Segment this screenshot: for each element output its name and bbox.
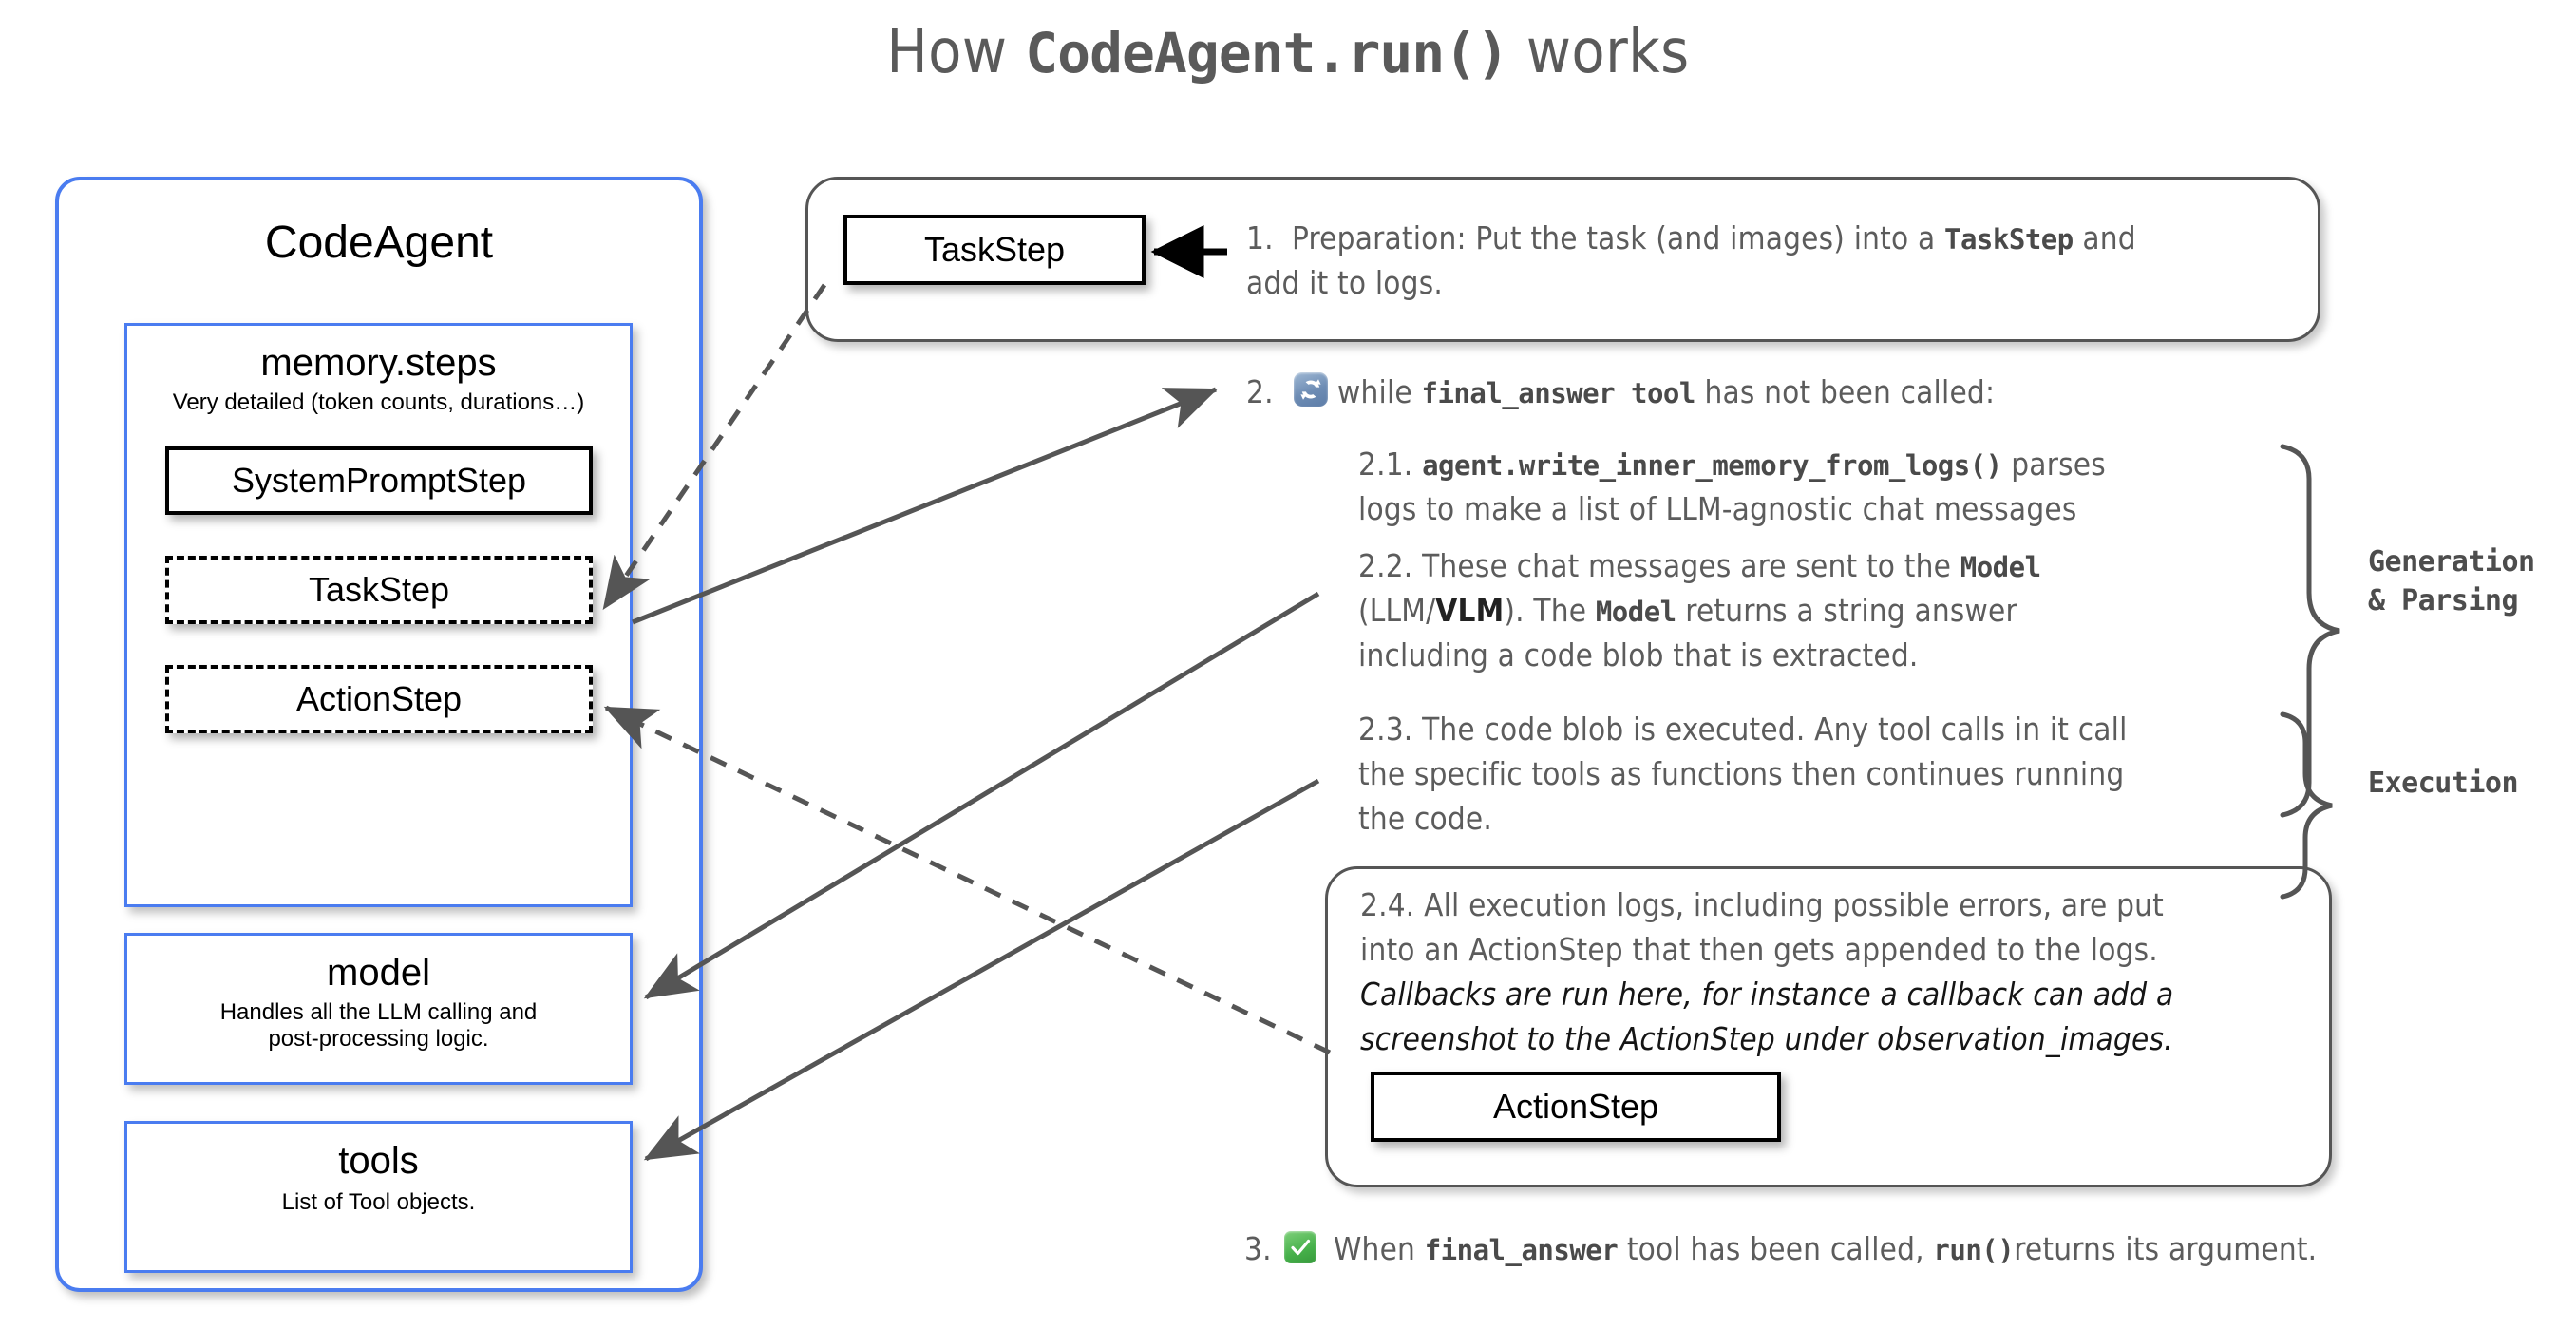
tools-title: tools — [124, 1140, 633, 1183]
step3-code-finalanswer: final_answer — [1425, 1234, 1619, 1266]
step2-2-text-line3: including a code blob that is extracted. — [1358, 636, 1919, 673]
step2-text-a: while — [1337, 373, 1422, 410]
step1-text-a: Preparation: Put the task (and images) i… — [1292, 219, 1944, 256]
side-label-generation: Generation & Parsing — [2368, 543, 2535, 620]
step2-4-text: 2.4. All execution logs, including possi… — [1360, 883, 2310, 1061]
arrow-step22-to-model — [646, 594, 1318, 997]
step2-4-actionstep-box[interactable]: ActionStep — [1371, 1072, 1781, 1142]
step-box-systempromptstep[interactable]: SystemPromptStep — [165, 446, 593, 515]
title-code: CodeAgent.run() — [1025, 21, 1508, 85]
step-box-taskstep[interactable]: TaskStep — [165, 556, 593, 624]
step2-2-text-line2-a: (LLM/ — [1358, 592, 1435, 629]
step2-header: 2. while final_answer tool has not been … — [1246, 370, 2386, 415]
step3-text-c: returns its argument. — [2014, 1230, 2317, 1267]
step2-1-text-line2: logs to make a list of LLM-agnostic chat… — [1358, 490, 2077, 527]
page-title: How CodeAgent.run() works — [0, 17, 2576, 87]
step3-number: 3. — [1244, 1230, 1272, 1267]
step2-text-b: has not been called: — [1695, 373, 1995, 410]
step1-number: 1. — [1246, 219, 1274, 256]
model-subtitle-line2: post-processing logic. — [268, 1026, 488, 1052]
step1-text: 1. Preparation: Put the task (and images… — [1246, 217, 2296, 306]
step-box-actionstep[interactable]: ActionStep — [165, 665, 593, 733]
model-title: model — [124, 952, 633, 995]
model-subtitle: Handles all the LLM calling and post-pro… — [124, 999, 633, 1053]
step2-1-text-a: parses — [2002, 446, 2106, 483]
step2-number: 2. — [1246, 373, 1274, 410]
title-prefix: How — [886, 17, 1025, 87]
step1-text-line2: add it to logs. — [1246, 264, 1443, 301]
step-box-label: SystemPromptStep — [232, 464, 526, 498]
step2-3-line3: the code. — [1358, 800, 1492, 837]
step2-4-line2: into an ActionStep that then gets append… — [1360, 931, 2158, 968]
model-subtitle-line1: Handles all the LLM calling and — [220, 999, 538, 1025]
step2-3-text: 2.3. The code blob is executed. Any tool… — [1358, 708, 2318, 842]
step2-4-number: 2.4. — [1360, 886, 1414, 923]
refresh-icon — [1294, 372, 1328, 407]
arrow-step23-to-tools — [646, 781, 1318, 1159]
step2-2-text: 2.2. These chat messages are sent to the… — [1358, 544, 2318, 678]
step2-code-finalanswer: final_answer tool — [1422, 377, 1695, 409]
step2-2-text-line2-b: ). The — [1504, 592, 1596, 629]
arrow-dashed-actionstep — [606, 708, 1330, 1053]
step2-4-line1: All execution logs, including possible e… — [1414, 886, 2164, 923]
check-icon — [1284, 1231, 1316, 1263]
arrow-memory-to-step2 — [633, 389, 1216, 622]
codeagent-title: CodeAgent — [55, 217, 703, 269]
step2-2-number: 2.2. — [1358, 547, 1412, 584]
title-suffix: works — [1508, 17, 1690, 87]
step2-2-code-model-2: Model — [1596, 596, 1676, 628]
step1-taskstep-label: TaskStep — [924, 233, 1065, 267]
step1-text-b: and — [2074, 219, 2136, 256]
step-box-label: TaskStep — [309, 573, 449, 607]
step1-taskstep-box[interactable]: TaskStep — [843, 215, 1146, 285]
step2-1-text: 2.1. agent.write_inner_memory_from_logs(… — [1358, 443, 2318, 532]
step2-2-text-line2-c: returns a string answer — [1676, 592, 2017, 629]
side-label-execution: Execution — [2368, 765, 2518, 804]
step3-text-b: tool has been called, — [1618, 1230, 1933, 1267]
tools-subtitle: List of Tool objects. — [124, 1189, 633, 1216]
step2-2-text-a: These chat messages are sent to the — [1412, 547, 1960, 584]
step2-2-vlm: VLM — [1435, 592, 1504, 629]
step3-text-a: When — [1334, 1230, 1425, 1267]
step2-1-code: agent.write_inner_memory_from_logs() — [1422, 449, 2002, 482]
step2-3-number: 2.3. — [1358, 711, 1412, 748]
step2-4-italic-line1: Callbacks are run here, for instance a c… — [1360, 976, 2173, 1013]
step3-code-run: run() — [1933, 1234, 2014, 1266]
memory-steps-title: memory.steps — [124, 342, 633, 385]
step2-1-number: 2.1. — [1358, 446, 1412, 483]
step2-4-actionstep-label: ActionStep — [1493, 1090, 1658, 1124]
step2-3-line1: The code blob is executed. Any tool call… — [1412, 711, 2127, 748]
step2-3-line2: the specific tools as functions then con… — [1358, 755, 2124, 792]
step2-4-italic-line2: screenshot to the ActionStep under obser… — [1360, 1020, 2173, 1057]
step3-text: 3. When final_answer tool has been calle… — [1244, 1227, 2527, 1272]
step2-2-code-model: Model — [1960, 551, 2041, 583]
memory-steps-subtitle: Very detailed (token counts, durations…) — [124, 389, 633, 416]
step-box-label: ActionStep — [296, 682, 462, 716]
step1-code-taskstep: TaskStep — [1944, 223, 2074, 256]
